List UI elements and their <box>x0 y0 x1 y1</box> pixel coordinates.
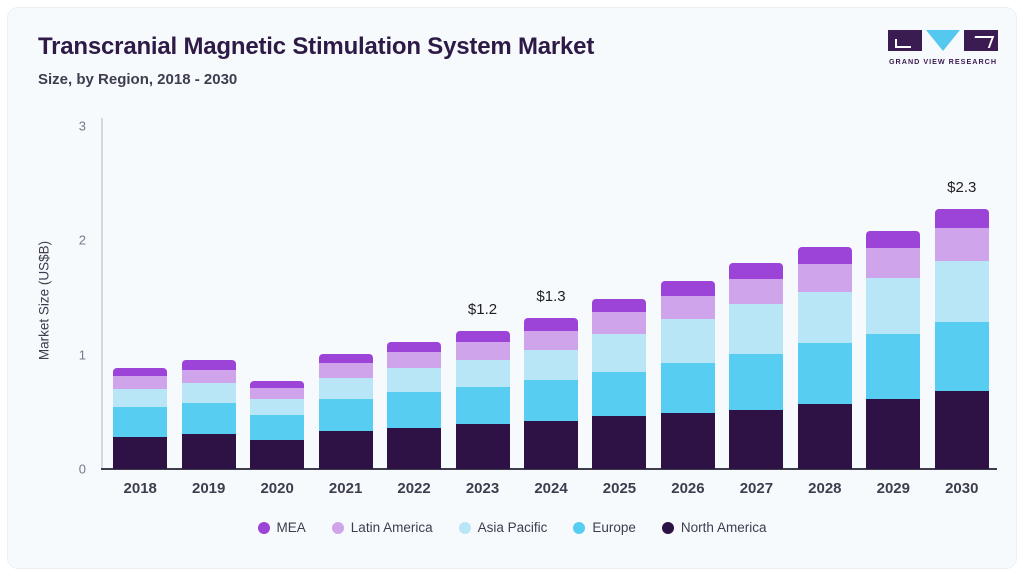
bar-segment-latin-america[interactable] <box>592 312 646 334</box>
bar-segment-north-america[interactable] <box>250 440 304 469</box>
y-axis-line <box>101 118 103 469</box>
bar-segment-north-america[interactable] <box>798 404 852 469</box>
x-axis-tick-label: 2030 <box>922 480 1002 497</box>
bar-segment-asia-pacific[interactable] <box>866 278 920 334</box>
bar-stack-2022[interactable] <box>387 126 441 469</box>
legend-item-label: North America <box>681 520 767 535</box>
bar-segment-mea[interactable] <box>935 209 989 227</box>
bar-segment-asia-pacific[interactable] <box>661 319 715 362</box>
bar-segment-mea[interactable] <box>182 360 236 369</box>
legend-swatch-icon <box>573 522 585 534</box>
bar-stack-2030[interactable] <box>935 126 989 469</box>
bar-segment-europe[interactable] <box>456 387 510 425</box>
y-axis-tick-label: 2 <box>28 233 86 248</box>
y-axis-label: Market Size (US$B) <box>37 191 52 411</box>
bar-segment-mea[interactable] <box>661 281 715 296</box>
bar-value-label: $2.3 <box>917 179 1007 196</box>
bar-segment-north-america[interactable] <box>387 428 441 469</box>
bar-stack-2018[interactable] <box>113 126 167 469</box>
bar-segment-north-america[interactable] <box>661 413 715 469</box>
bar-segment-mea[interactable] <box>113 368 167 376</box>
bar-segment-asia-pacific[interactable] <box>456 360 510 386</box>
bar-stack-2021[interactable] <box>319 126 373 469</box>
bar-stack-2028[interactable] <box>798 126 852 469</box>
bar-segment-europe[interactable] <box>729 354 783 410</box>
bar-segment-latin-america[interactable] <box>456 342 510 360</box>
bar-segment-europe[interactable] <box>250 415 304 440</box>
bar-segment-europe[interactable] <box>182 403 236 434</box>
bar-segment-asia-pacific[interactable] <box>113 389 167 407</box>
bar-segment-mea[interactable] <box>387 342 441 352</box>
bar-segment-latin-america[interactable] <box>250 388 304 399</box>
legend-item-north-america[interactable]: North America <box>662 520 767 535</box>
bar-segment-europe[interactable] <box>661 363 715 413</box>
bar-segment-north-america[interactable] <box>729 410 783 469</box>
legend-item-label: MEA <box>277 520 306 535</box>
bar-segment-asia-pacific[interactable] <box>250 399 304 415</box>
bar-segment-north-america[interactable] <box>935 391 989 469</box>
bar-segment-asia-pacific[interactable] <box>182 383 236 402</box>
legend-swatch-icon <box>332 522 344 534</box>
legend-item-europe[interactable]: Europe <box>573 520 636 535</box>
bar-segment-asia-pacific[interactable] <box>935 261 989 322</box>
bar-segment-north-america[interactable] <box>866 399 920 469</box>
bar-segment-europe[interactable] <box>319 399 373 431</box>
bar-segment-mea[interactable] <box>729 263 783 279</box>
bar-segment-asia-pacific[interactable] <box>319 378 373 400</box>
bar-segment-asia-pacific[interactable] <box>729 304 783 353</box>
y-axis-tick-label: 1 <box>28 347 86 362</box>
bar-segment-north-america[interactable] <box>113 437 167 469</box>
bar-segment-mea[interactable] <box>524 318 578 331</box>
bar-segment-latin-america[interactable] <box>387 352 441 368</box>
legend-item-latin-america[interactable]: Latin America <box>332 520 433 535</box>
bar-segment-latin-america[interactable] <box>113 376 167 389</box>
legend-item-mea[interactable]: MEA <box>258 520 306 535</box>
bar-stack-2025[interactable] <box>592 126 646 469</box>
bar-segment-mea[interactable] <box>592 299 646 313</box>
bar-segment-north-america[interactable] <box>592 416 646 469</box>
bar-stack-2023[interactable] <box>456 126 510 469</box>
bar-segment-latin-america[interactable] <box>729 279 783 304</box>
legend-swatch-icon <box>662 522 674 534</box>
bar-segment-mea[interactable] <box>319 354 373 363</box>
bar-segment-mea[interactable] <box>866 231 920 248</box>
legend-item-asia-pacific[interactable]: Asia Pacific <box>459 520 548 535</box>
bar-segment-mea[interactable] <box>250 381 304 388</box>
bar-segment-asia-pacific[interactable] <box>524 350 578 380</box>
bar-segment-europe[interactable] <box>798 343 852 404</box>
bar-segment-latin-america[interactable] <box>866 248 920 278</box>
bar-segment-latin-america[interactable] <box>182 370 236 384</box>
bar-segment-asia-pacific[interactable] <box>387 368 441 392</box>
bar-segment-north-america[interactable] <box>456 424 510 469</box>
bar-segment-north-america[interactable] <box>319 431 373 469</box>
bar-stack-2026[interactable] <box>661 126 715 469</box>
bar-stack-2029[interactable] <box>866 126 920 469</box>
bar-value-label: $1.3 <box>506 288 596 305</box>
bar-segment-latin-america[interactable] <box>319 363 373 378</box>
y-axis-tick-label: 0 <box>28 462 86 477</box>
chart-legend: MEALatin AmericaAsia PacificEuropeNorth … <box>8 520 1016 535</box>
bar-segment-asia-pacific[interactable] <box>798 292 852 343</box>
legend-item-label: Europe <box>592 520 636 535</box>
bar-segment-latin-america[interactable] <box>661 296 715 319</box>
bar-segment-europe[interactable] <box>866 334 920 399</box>
bar-segment-europe[interactable] <box>592 372 646 417</box>
bar-stack-2019[interactable] <box>182 126 236 469</box>
bar-segment-asia-pacific[interactable] <box>592 334 646 372</box>
bar-segment-latin-america[interactable] <box>798 264 852 291</box>
bar-segment-europe[interactable] <box>113 407 167 437</box>
bar-segment-mea[interactable] <box>798 247 852 264</box>
bar-segment-latin-america[interactable] <box>935 228 989 261</box>
bar-stack-2020[interactable] <box>250 126 304 469</box>
bar-segment-mea[interactable] <box>456 331 510 342</box>
legend-swatch-icon <box>258 522 270 534</box>
bar-segment-europe[interactable] <box>935 322 989 392</box>
y-axis-tick-label: 3 <box>28 119 86 134</box>
bar-segment-europe[interactable] <box>387 392 441 427</box>
bar-segment-north-america[interactable] <box>182 434 236 469</box>
legend-item-label: Asia Pacific <box>478 520 548 535</box>
bar-segment-north-america[interactable] <box>524 421 578 469</box>
bar-segment-latin-america[interactable] <box>524 331 578 350</box>
legend-item-label: Latin America <box>351 520 433 535</box>
chart-card: Transcranial Magnetic Stimulation System… <box>8 8 1016 568</box>
bar-segment-europe[interactable] <box>524 380 578 421</box>
bar-stack-2027[interactable] <box>729 126 783 469</box>
legend-swatch-icon <box>459 522 471 534</box>
bar-chart-plot-area: Market Size (US$B) 0123 2018201920202021… <box>8 8 1016 568</box>
